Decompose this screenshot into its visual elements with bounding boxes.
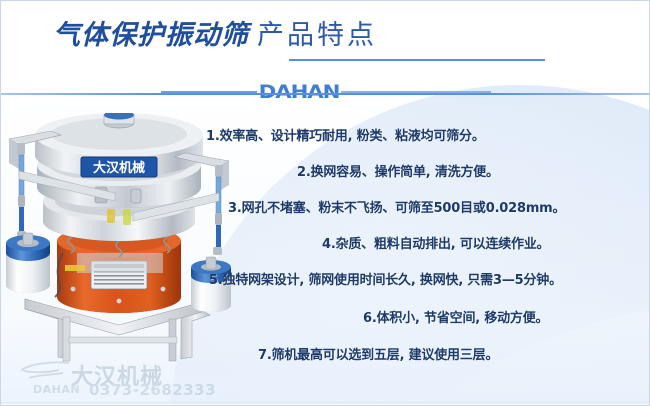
page-title: 气体保护振动筛产品特点: [53, 13, 377, 52]
watermark-chinese: 大汉机械: [71, 359, 163, 391]
slide-header: 气体保护振动筛产品特点 DAHAN: [1, 1, 650, 95]
bottom-edge: [1, 402, 650, 405]
brand-band: DAHAN: [1, 80, 650, 104]
page-title-main: 气体保护振动筛: [53, 20, 249, 51]
feature-item-2: 2.换网容易、操作简单, 清洗方便。: [297, 161, 499, 180]
feature-item-3: 3.网孔不堵塞、粉末不飞扬、可筛至500目或0.028mm。: [228, 197, 565, 216]
header-divider: [1, 93, 650, 95]
feature-item-5: 5.独特网架设计, 筛网使用时间长久, 换网快, 只需3—5分钟。: [209, 269, 562, 288]
watermark-swoosh-icon: [19, 361, 71, 381]
dahan-logo: DAHAN: [259, 81, 340, 103]
sieve-decks: 大汉机械: [35, 113, 203, 241]
page-title-sub: 产品特点: [257, 20, 377, 50]
watermark-phone: 0373-2682333: [89, 381, 216, 399]
machine-brand-label: 大汉机械: [93, 160, 145, 176]
watermark-english: DAHAN: [33, 383, 80, 396]
feature-item-7: 7.筛机最高可以选到五层, 建议使用三层。: [258, 344, 498, 363]
slide-canvas: 气体保护振动筛产品特点 DAHAN: [0, 0, 650, 406]
feature-item-6: 6.体积小, 节省空间, 移动方便。: [363, 307, 548, 326]
feature-item-4: 4.杂质、粗料自动排出, 可以连续作业。: [322, 233, 549, 252]
title-underline: [289, 59, 545, 61]
feature-item-1: 1.效率高、设计精巧耐用, 粉类、粘液均可筛分。: [206, 125, 485, 144]
feature-list: 1.效率高、设计精巧耐用, 粉类、粘液均可筛分。 2.换网容易、操作简单, 清洗…: [197, 113, 647, 383]
